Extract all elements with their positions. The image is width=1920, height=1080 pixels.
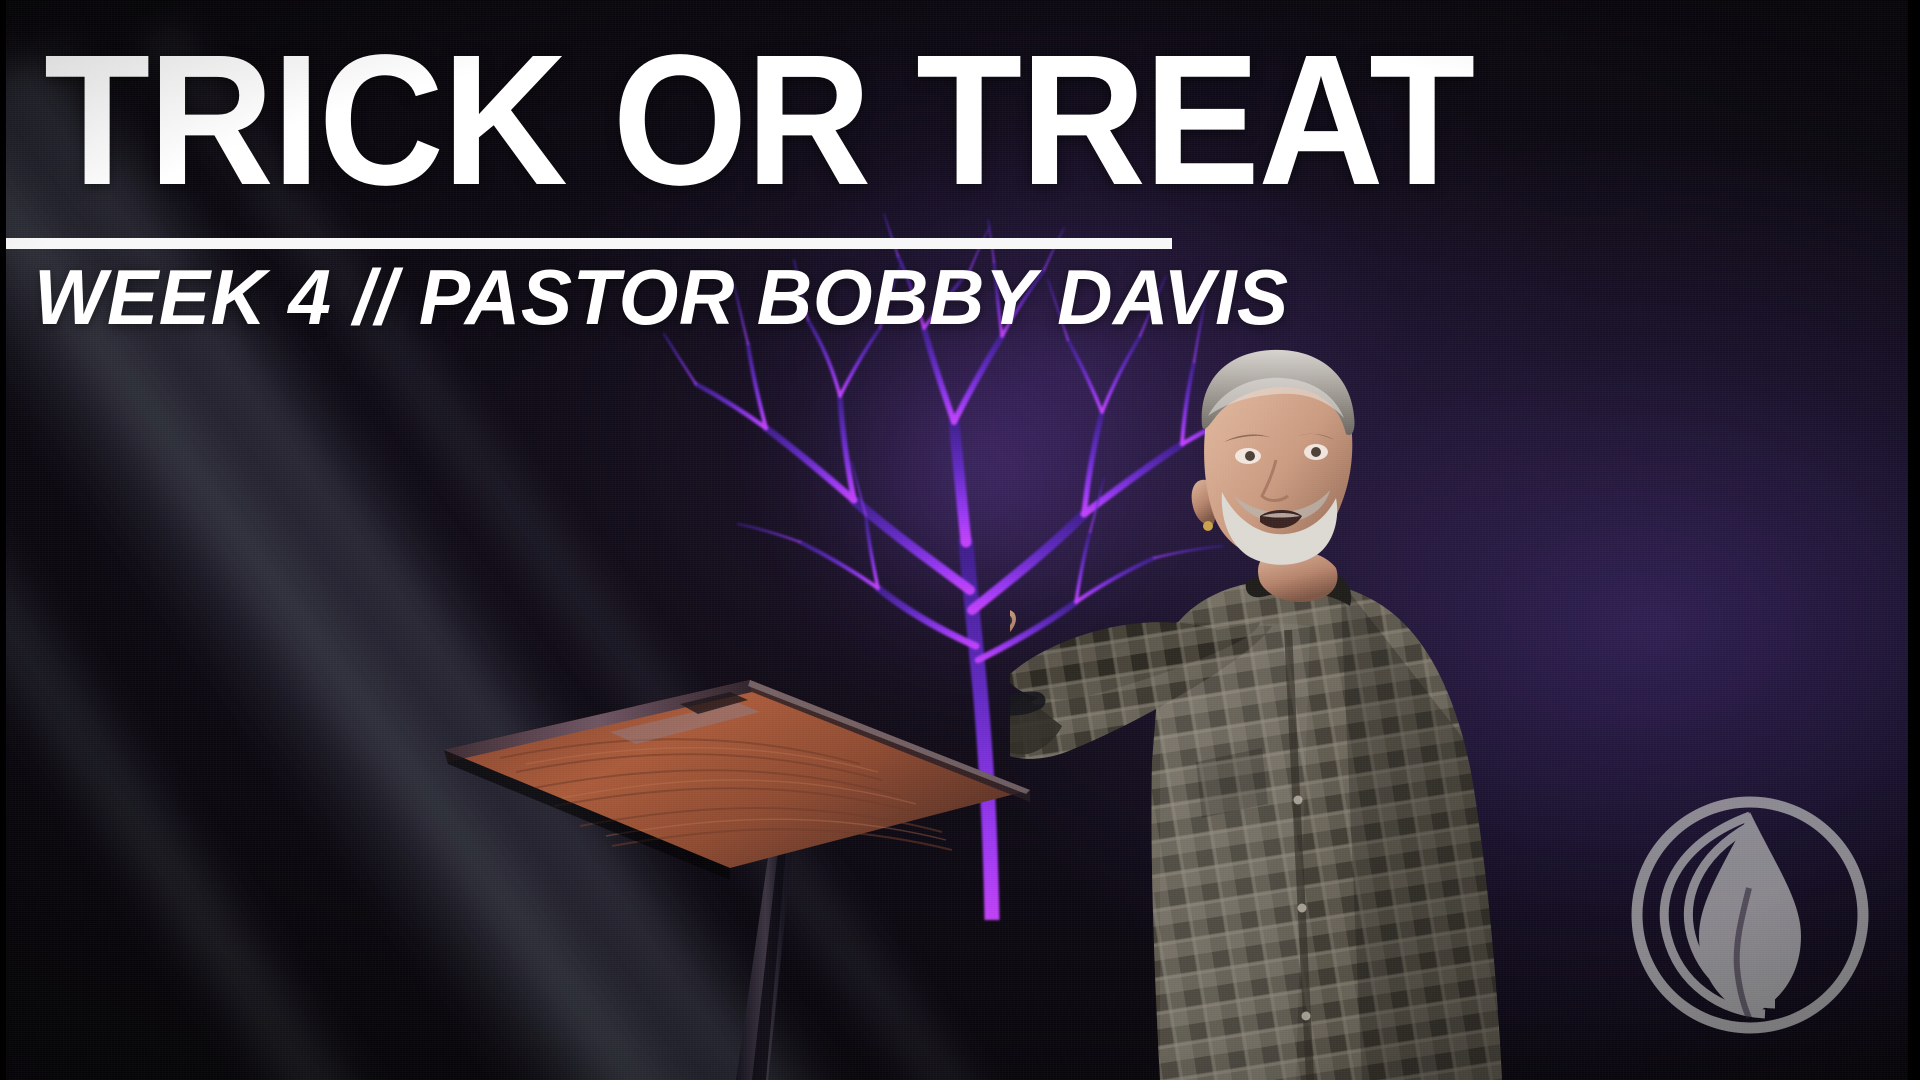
right-edge-bar — [1908, 0, 1920, 1080]
left-edge-bar — [0, 0, 6, 1080]
title-card-frame: TRICK OR TREAT WEEK 4 // PASTOR BOBBY DA… — [0, 0, 1920, 1080]
wooden-lectern — [430, 640, 1090, 1080]
speaker-figure — [1010, 330, 1670, 1080]
main-title: TRICK OR TREAT — [44, 28, 1473, 214]
title-divider-rule — [0, 238, 1172, 249]
subtitle: WEEK 4 // PASTOR BOBBY DAVIS — [34, 258, 1289, 336]
church-flame-logo — [1625, 790, 1875, 1040]
